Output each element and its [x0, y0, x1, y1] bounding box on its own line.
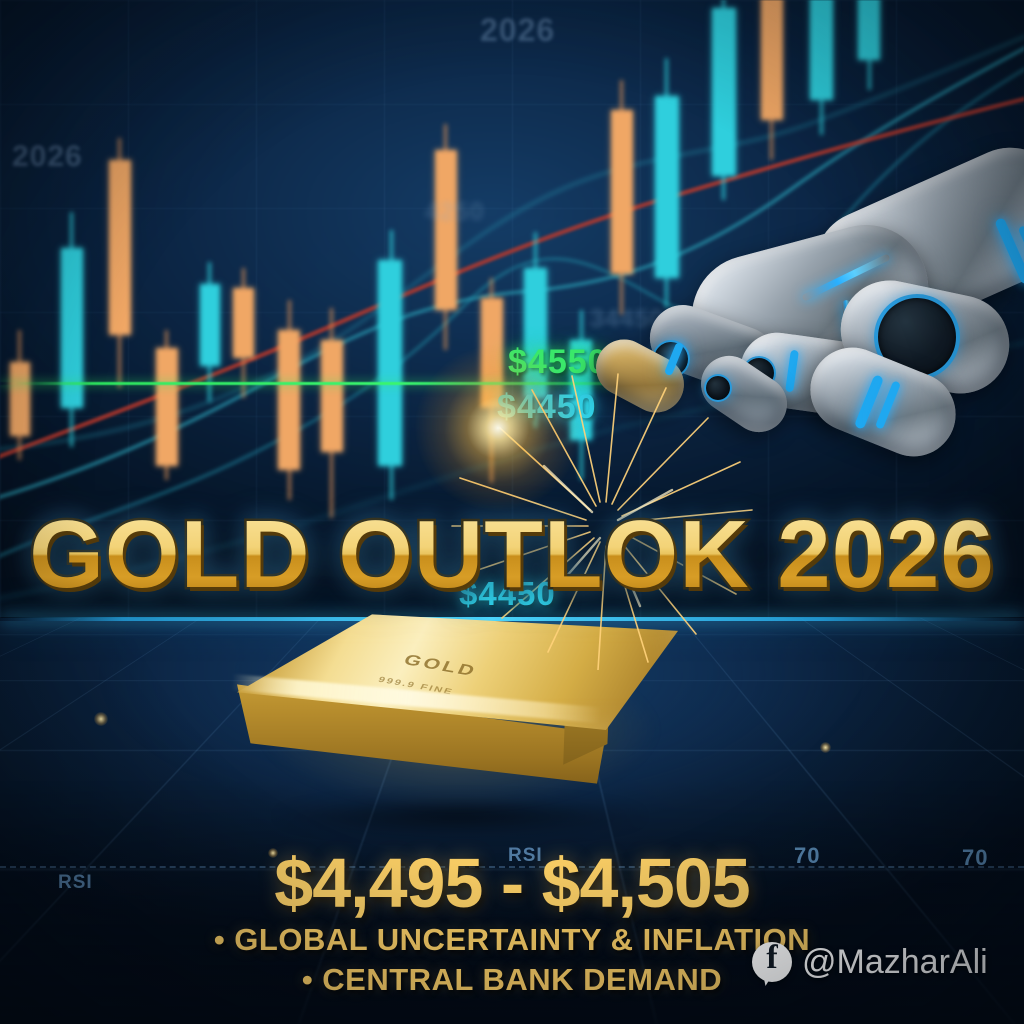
poster-title: GOLD OUTLOK 2026: [0, 500, 1024, 610]
resistance-line: [0, 382, 660, 385]
social-handle-text[interactable]: @MazharAli: [802, 943, 988, 982]
resistance-price-label: $4550: [508, 343, 608, 382]
support-price-label: $4450: [497, 388, 597, 427]
bg-year-left: 2026: [12, 140, 83, 174]
bg-year-top: 2026: [480, 12, 555, 49]
forecast-price-range: $4,495 - $4,505: [0, 843, 1024, 923]
facebook-icon[interactable]: [752, 942, 792, 982]
floor-glow-dot-1: [94, 712, 108, 726]
floor-glow-dot-3: [820, 742, 831, 753]
gold-outlook-poster: 2026 2026 34450 4250 $4550 $4450 GOLD 99…: [0, 0, 1024, 1024]
gold-bar: GOLD 999.9 FINE: [228, 612, 678, 827]
gold-bar-engraving: GOLD: [401, 652, 480, 681]
bg-price-left: 4250: [425, 198, 485, 227]
hand-pinky-joint: [704, 374, 732, 402]
social-handle[interactable]: @MazharAli: [752, 942, 988, 982]
